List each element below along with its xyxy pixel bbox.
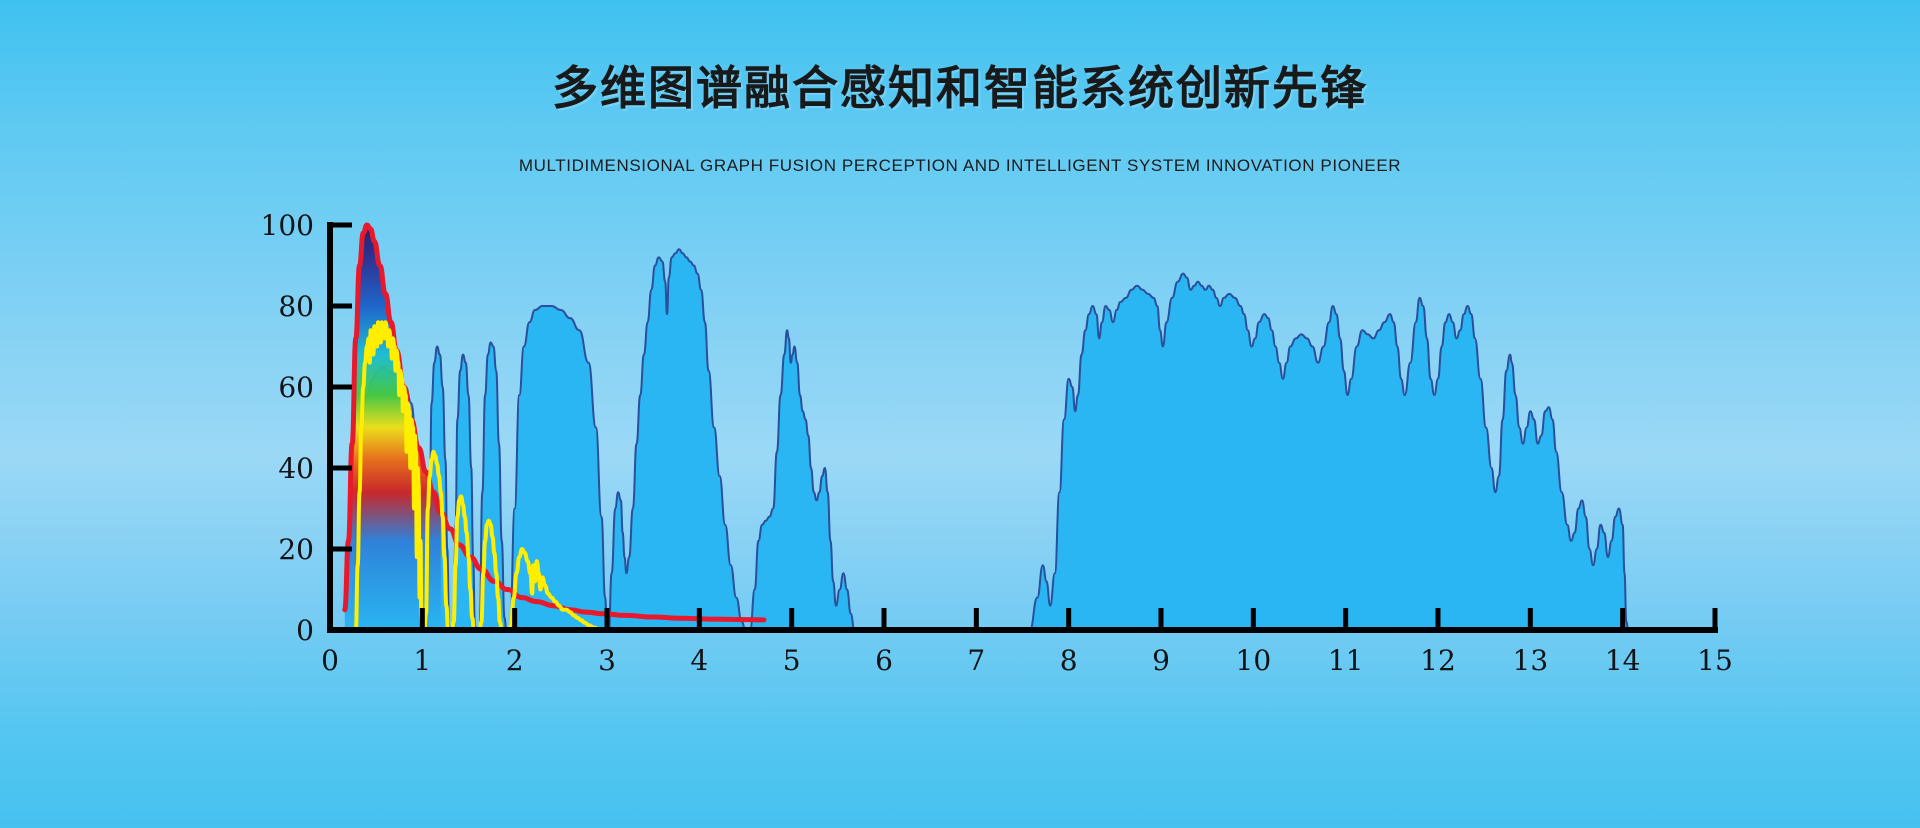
x-tick-label: 7	[967, 644, 985, 677]
spectrum-chart-svg: UVVISNIRSWIRMIRTIR 012345678910111213141…	[0, 205, 1920, 825]
page-title: 多维图谱融合感知和智能系统创新先锋	[0, 52, 1920, 118]
x-tick-label: 2	[506, 644, 524, 677]
y-tick-label: 80	[278, 290, 314, 323]
spectrum-chart: UVVISNIRSWIRMIRTIR 012345678910111213141…	[0, 205, 1920, 825]
x-tick-label: 11	[1328, 644, 1364, 677]
series-group	[345, 225, 1628, 630]
y-tick-label: 60	[278, 371, 314, 404]
x-tick-label: 9	[1152, 644, 1170, 677]
y-tick-label: 100	[261, 209, 314, 242]
y-tick-label: 40	[278, 452, 314, 485]
y-tick-label: 20	[278, 533, 314, 566]
x-tick-label: 15	[1697, 644, 1733, 677]
x-tick-label: 5	[783, 644, 801, 677]
x-tick-label: 1	[413, 644, 431, 677]
x-tick-label: 14	[1605, 644, 1641, 677]
x-tick-label: 12	[1420, 644, 1456, 677]
x-tick-label: 0	[321, 644, 339, 677]
x-tick-label: 13	[1513, 644, 1549, 677]
poster-canvas: 多维图谱融合感知和智能系统创新先锋 MULTIDIMENSIONAL GRAPH…	[0, 0, 1920, 828]
x-tick-label: 6	[875, 644, 893, 677]
x-tick-label: 3	[598, 644, 616, 677]
series-atmospheric-transmission	[1030, 274, 1628, 630]
x-tick-label: 8	[1060, 644, 1078, 677]
x-tick-label: 10	[1236, 644, 1272, 677]
x-tick-label: 4	[690, 644, 708, 677]
page-subtitle: MULTIDIMENSIONAL GRAPH FUSION PERCEPTION…	[0, 156, 1920, 176]
y-tick-label: 0	[296, 614, 314, 647]
